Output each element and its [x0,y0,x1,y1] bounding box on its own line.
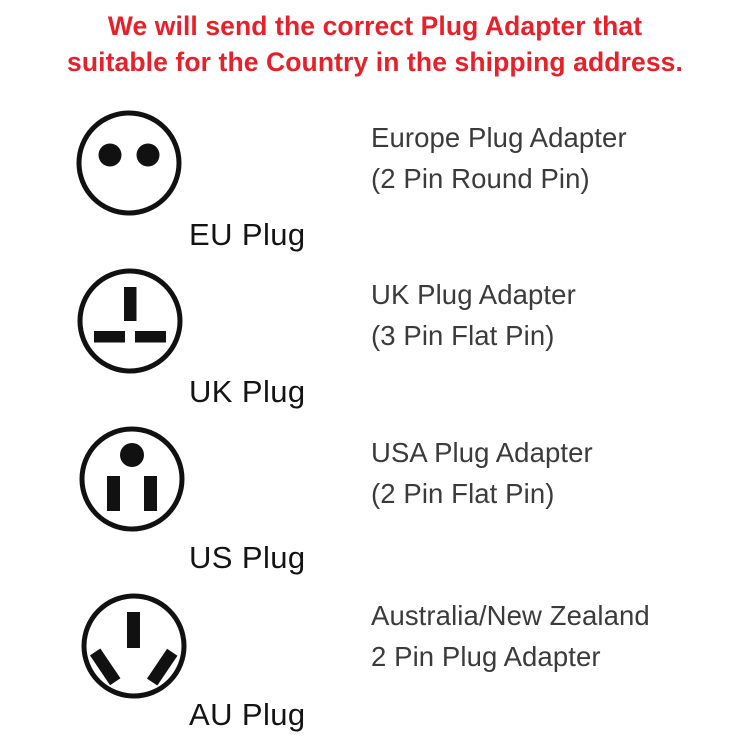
plug-row-us: US Plug USA Plug Adapter (2 Pin Flat Pin… [0,420,750,580]
plug-adapter-info-graphic: We will send the correct Plug Adapter th… [0,0,750,750]
plug-description-au-line-2: 2 Pin Plug Adapter [371,636,650,677]
plug-description-eu-line-2: (2 Pin Round Pin) [371,158,627,199]
us-socket-icon [74,424,190,536]
plug-description-us-line-2: (2 Pin Flat Pin) [371,473,593,514]
au-socket-icon [74,589,190,701]
plug-description-uk-line-2: (3 Pin Flat Pin) [371,315,576,356]
plug-description-uk-line-1: UK Plug Adapter [371,274,576,315]
header-line-1: We will send the correct Plug Adapter th… [0,8,750,44]
plug-description-us-line-1: USA Plug Adapter [371,432,593,473]
plug-description-au-line-1: Australia/New Zealand [371,595,650,636]
plug-label-us: US Plug [189,540,306,576]
plug-row-uk: UK Plug UK Plug Adapter (3 Pin Flat Pin) [0,262,750,420]
header-notice: We will send the correct Plug Adapter th… [0,8,750,80]
eu-socket-icon [74,109,190,221]
plug-row-eu: EU Plug Europe Plug Adapter (2 Pin Round… [0,105,750,265]
plug-label-uk: UK Plug [189,374,306,410]
plug-description-uk: UK Plug Adapter (3 Pin Flat Pin) [371,274,576,356]
plug-row-au: AU Plug Australia/New Zealand 2 Pin Plug… [0,585,750,750]
plug-description-eu-line-1: Europe Plug Adapter [371,117,627,158]
header-line-2: suitable for the Country in the shipping… [0,44,750,80]
plug-label-au: AU Plug [189,697,306,733]
plug-label-eu: EU Plug [189,217,306,253]
uk-socket-icon [74,266,190,378]
plug-description-eu: Europe Plug Adapter (2 Pin Round Pin) [371,117,627,199]
plug-description-us: USA Plug Adapter (2 Pin Flat Pin) [371,432,593,514]
plug-description-au: Australia/New Zealand 2 Pin Plug Adapter [371,595,650,677]
